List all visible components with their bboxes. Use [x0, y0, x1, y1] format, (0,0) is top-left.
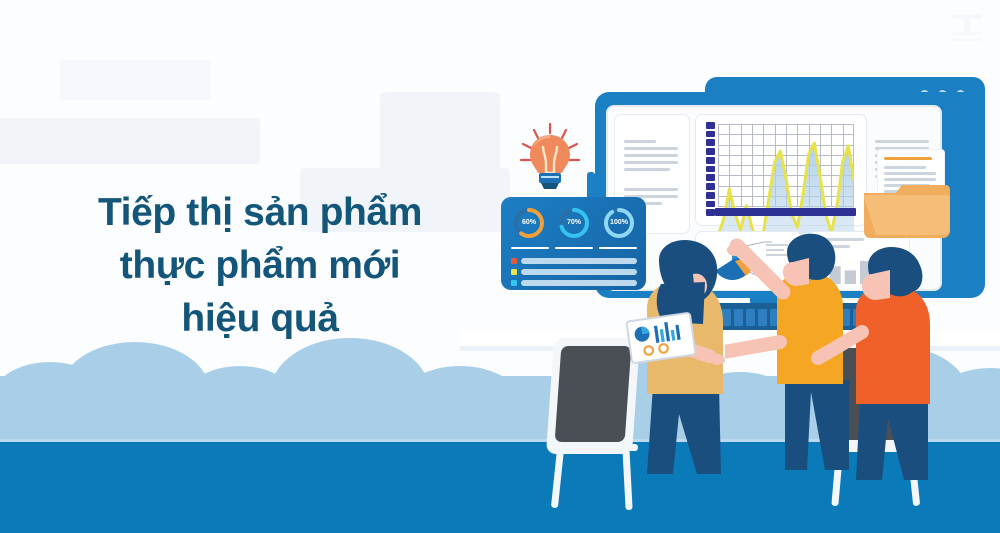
person-left-legs — [647, 384, 721, 474]
gauge-1: 60% — [511, 205, 547, 241]
poster-canvas: Tiếp thị sản phẩm thực phẩm mới hiệu quả — [0, 0, 1000, 533]
headline-line-2: thực phẩm mới — [34, 239, 486, 292]
person-right-shirt — [856, 284, 930, 404]
illustration: 60% 70% 100% — [480, 0, 1000, 533]
legend-key-icon — [511, 269, 517, 275]
person-right-arm — [818, 332, 862, 358]
gauge-3: 100% — [601, 205, 637, 241]
area-chart — [704, 122, 856, 216]
gauge-1-label: 60% — [511, 205, 547, 241]
background-shape — [60, 60, 210, 100]
gauge-2-label: 70% — [556, 205, 592, 241]
gauge-2: 70% — [556, 205, 592, 241]
background-shape — [0, 118, 260, 164]
person-right-legs — [856, 398, 928, 480]
gauge-3-label: 100% — [601, 205, 637, 241]
chair-leg — [551, 448, 564, 508]
person-middle-face — [783, 258, 809, 286]
legend-key-icon — [511, 280, 517, 286]
headline-line-1: Tiếp thị sản phẩm — [34, 186, 486, 239]
person-right-face — [862, 270, 890, 300]
person-right — [810, 240, 980, 490]
document-panel-lines — [624, 140, 678, 171]
gauge-group: 60% 70% 100% — [511, 205, 637, 241]
chart-x-axis — [715, 208, 856, 216]
tablet-icon — [625, 312, 696, 365]
legend-key-icon — [511, 258, 517, 264]
person-left — [585, 238, 755, 488]
headline: Tiếp thị sản phẩm thực phẩm mới hiệu quả — [34, 186, 486, 345]
chart-y-axis — [706, 122, 715, 216]
lightbulb-icon — [518, 122, 582, 192]
folder-icon — [862, 183, 950, 239]
